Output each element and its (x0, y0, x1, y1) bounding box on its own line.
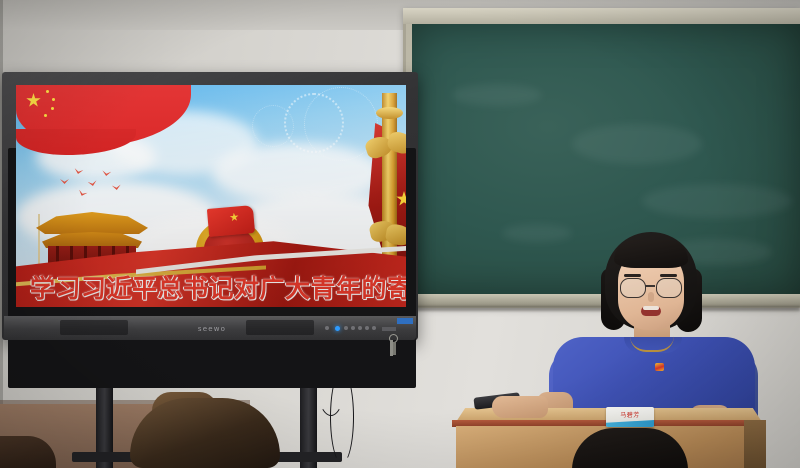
green-chalkboard (412, 24, 800, 294)
presenter-teeth (643, 306, 659, 310)
lectern-side-panel (744, 420, 766, 468)
lectern-nameplate-bar (606, 420, 654, 427)
tv-stand-base-left (72, 452, 138, 462)
presentation-screen[interactable]: 中国共青团 中华人民共和国万岁 世界人民大团结 (16, 85, 406, 307)
eyeglasses-bridge (645, 285, 655, 287)
classroom-presentation-photo: 中国共青团 中华人民共和国万岁 世界人民大团结 (0, 0, 800, 468)
chalkboard-frame-top (403, 8, 800, 24)
presenter-nose (648, 292, 654, 302)
panel-sticker (397, 318, 413, 324)
hanging-keys[interactable] (388, 334, 396, 358)
lectern-nameplate-text: 马碧芳 (606, 410, 654, 419)
panel-ports[interactable] (382, 327, 396, 331)
youth-league-pin (655, 363, 664, 371)
panel-control-buttons[interactable] (325, 326, 373, 333)
eyeglasses-right-lens (656, 278, 682, 298)
panel-speaker-right (246, 320, 314, 335)
presenter-fringe (614, 240, 688, 268)
emblem-star (229, 212, 239, 222)
panel-speaker-left (60, 320, 128, 335)
presenter-hand-left (492, 396, 548, 418)
lectern-nameplate: 马碧芳 (606, 407, 654, 427)
panel-brand-logo: seewo (186, 325, 238, 334)
power-led-icon (335, 326, 340, 331)
slide-title: 学习习近平总书记对广大青年的寄语 (30, 275, 392, 303)
eyeglasses-left-lens (620, 278, 646, 298)
tv-stand-base-right (276, 452, 342, 462)
